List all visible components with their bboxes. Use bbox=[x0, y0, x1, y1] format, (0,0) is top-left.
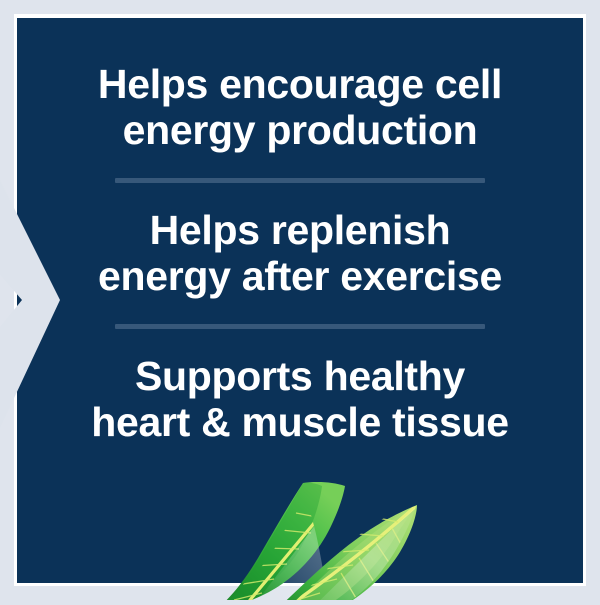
divider-2 bbox=[115, 324, 485, 329]
claim-1: Helps encourage cell energy production bbox=[85, 62, 515, 153]
divider-1 bbox=[115, 178, 485, 183]
claim-3: Supports healthy heart & muscle tissue bbox=[85, 354, 515, 445]
claim-1-line-1: Helps encourage cell bbox=[85, 62, 515, 108]
claim-2: Helps replenish energy after exercise bbox=[85, 208, 515, 299]
product-benefit-banner: Helps encourage cell energy production H… bbox=[0, 0, 600, 600]
claim-3-line-2: heart & muscle tissue bbox=[85, 400, 515, 446]
claim-2-line-1: Helps replenish bbox=[85, 208, 515, 254]
claim-1-line-2: energy production bbox=[85, 108, 515, 154]
claims-stack: Helps encourage cell energy production H… bbox=[17, 18, 583, 583]
claim-3-line-1: Supports healthy bbox=[85, 354, 515, 400]
claim-2-line-2: energy after exercise bbox=[85, 254, 515, 300]
